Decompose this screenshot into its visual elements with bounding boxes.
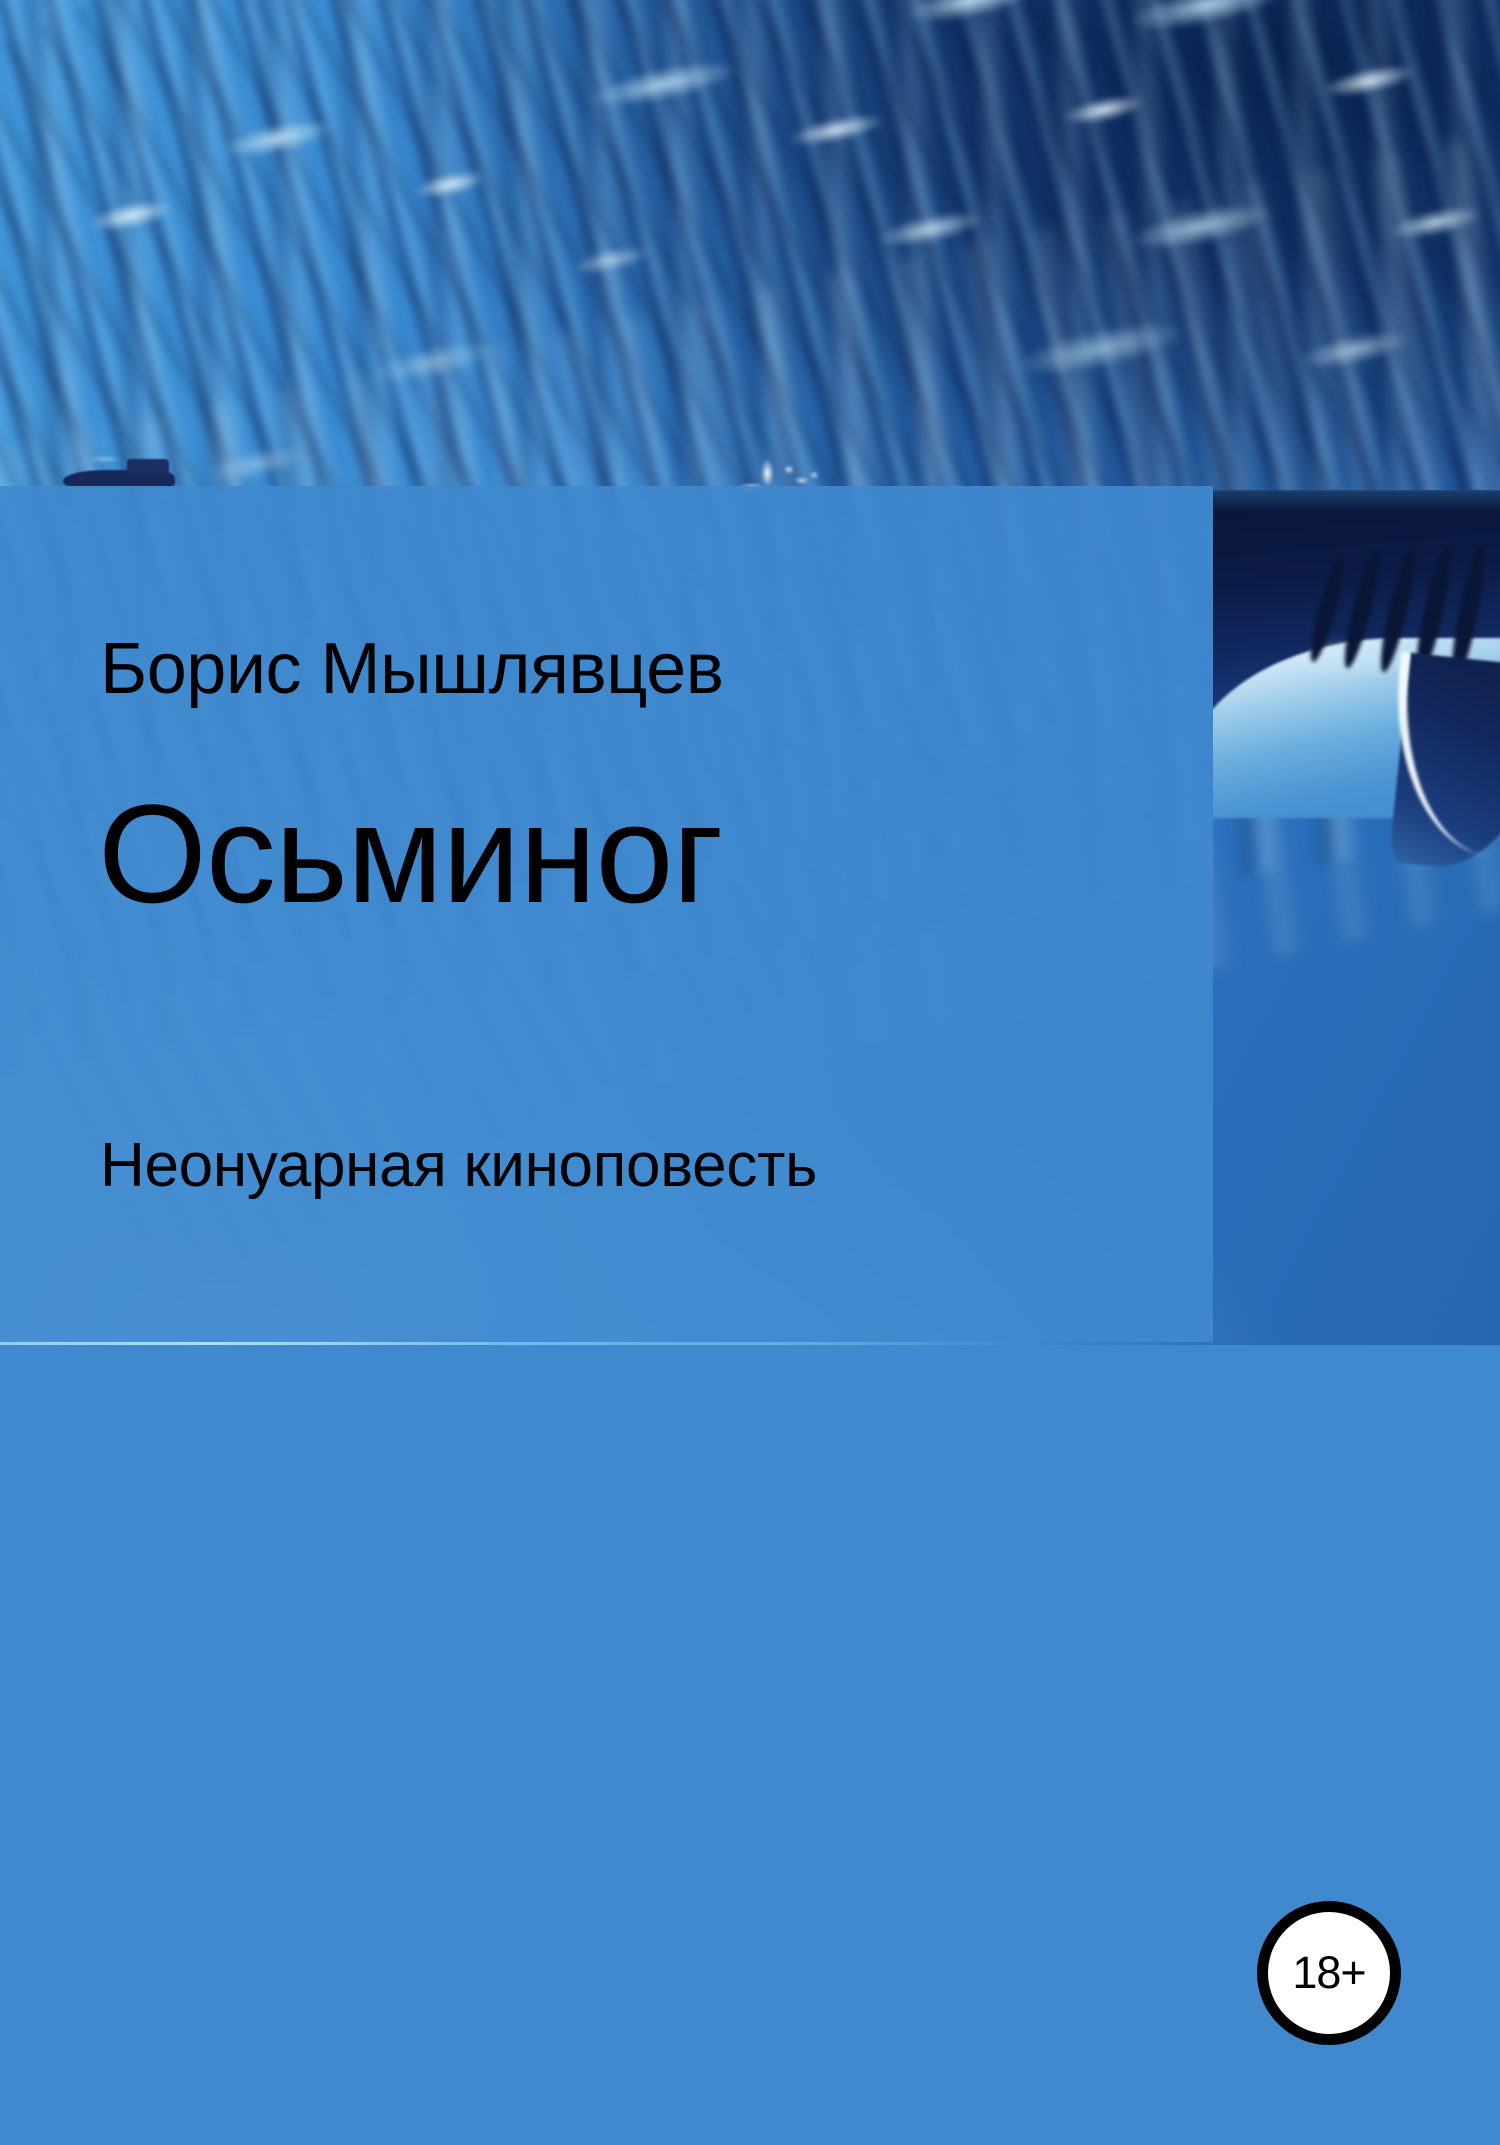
boat-cabin [127,459,169,475]
boat-silhouette [63,459,175,487]
author-name: Борис Мышлявцев [100,628,724,710]
boat-wake [81,455,129,463]
shark-top-shadow [1213,490,1500,512]
age-rating-label: 18+ [1292,1950,1365,1995]
book-cover: Борис Мышлявцев Осьминог Неонуарная кино… [0,0,1500,2145]
shark-illustration [1213,490,1500,1050]
book-subtitle: Неонуарная киноповесть [100,1130,817,1201]
book-title: Осьминог [98,780,723,927]
age-rating-badge: 18+ [1257,1901,1401,2045]
